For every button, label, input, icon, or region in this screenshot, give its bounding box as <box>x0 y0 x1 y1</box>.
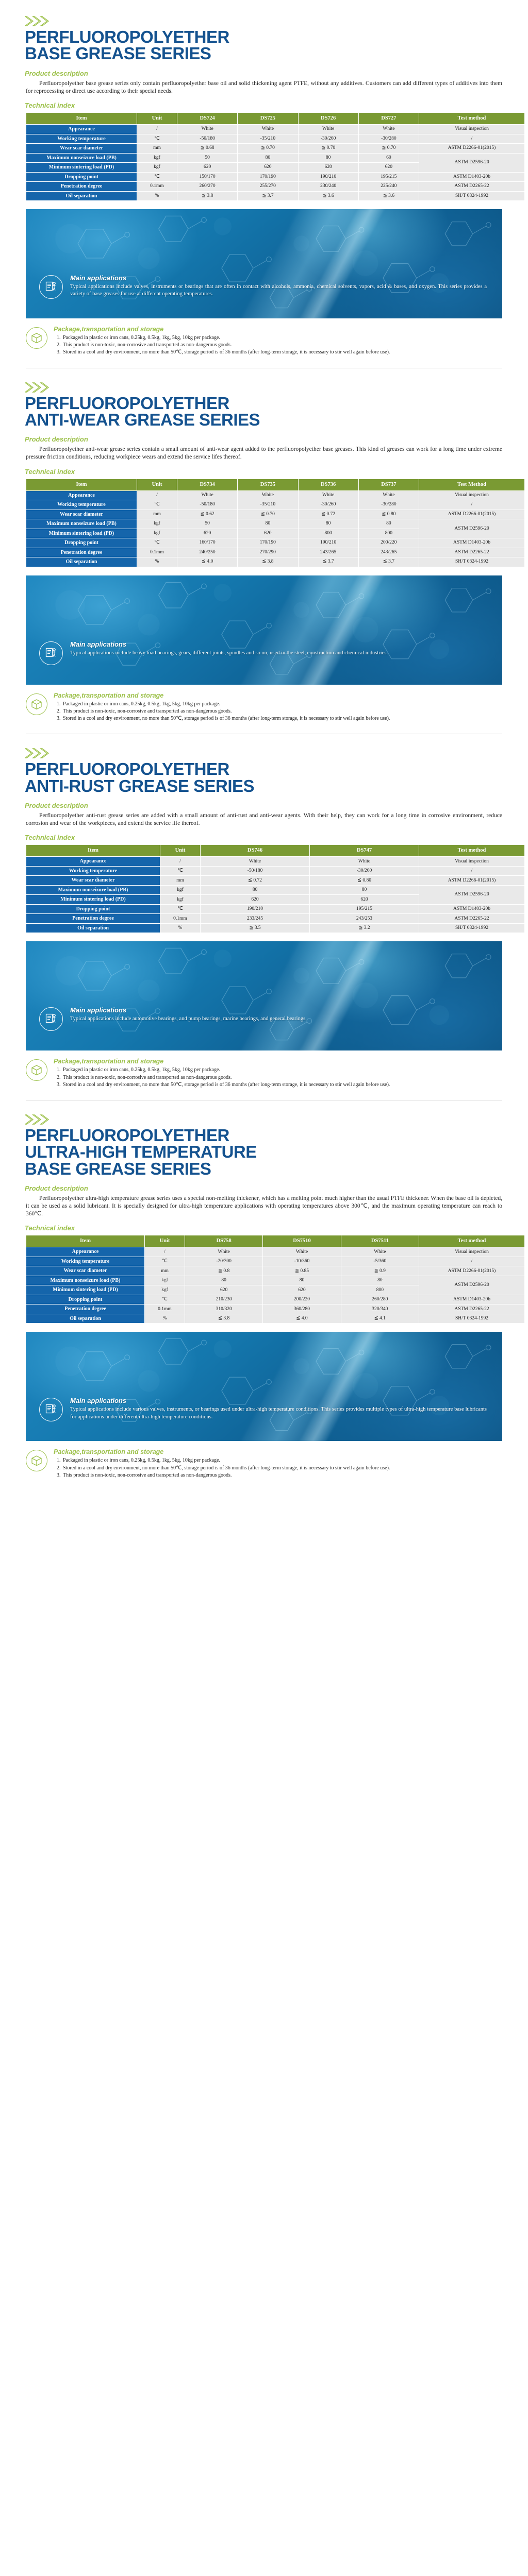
main-applications-title: Main applications <box>70 274 487 282</box>
table-cell: White <box>201 857 310 867</box>
table-cell: ≦ 3.8 <box>177 191 238 201</box>
table-cell: ≦ 3.6 <box>298 191 358 201</box>
table-cell: ≦ 4.0 <box>177 557 238 567</box>
table-row: Dropping point℃210/230200/220260/280ASTM… <box>26 1295 525 1304</box>
table-cell: / <box>419 866 525 876</box>
table-cell: -30/260 <box>298 500 358 510</box>
row-header-cell: Penetration degree <box>26 182 137 192</box>
row-header-cell: Minimum sintering load (PD) <box>26 895 160 905</box>
table-row: Penetration degree0.1mm233/245243/253AST… <box>26 914 525 924</box>
table-cell: ASTM D2265-22 <box>419 914 525 924</box>
main-applications-title: Main applications <box>70 640 487 648</box>
technical-index-table: ItemUnitDS758DS7510DS7511Test methodAppe… <box>26 1235 525 1324</box>
table-cell: kgf <box>137 163 177 173</box>
table-cell: 80 <box>341 1276 419 1285</box>
table-cell: SH/T 0324-1992 <box>419 1314 525 1324</box>
table-cell: -50/180 <box>177 134 238 144</box>
presentation-icon <box>39 641 63 665</box>
list-item: Stored in a cool and dry environment, no… <box>62 1465 502 1472</box>
package-storage-title: Package,transportation and storage <box>54 1448 502 1455</box>
table-cell: ℃ <box>137 134 177 144</box>
table-cell: 200/220 <box>263 1295 341 1304</box>
table-cell: kgf <box>145 1285 185 1295</box>
table-header-row: ItemUnitDS724DS725DS726DS727Test method <box>26 113 525 125</box>
list-item: This product is non-toxic, non-corrosive… <box>62 708 502 715</box>
column-header: Item <box>26 113 137 125</box>
table-cell: ASTM D2266-01(2015) <box>419 144 525 154</box>
package-box-icon <box>26 1059 47 1081</box>
table-header-row: ItemUnitDS758DS7510DS7511Test method <box>26 1235 525 1247</box>
column-header: DS7510 <box>263 1235 341 1247</box>
table-cell: kgf <box>160 885 201 895</box>
column-header: Unit <box>137 113 177 125</box>
table-cell: ≦ 0.70 <box>298 144 358 154</box>
table-row: Penetration degree0.1mm260/270255/270230… <box>26 182 525 192</box>
package-box-icon <box>26 693 47 715</box>
row-header-cell: Minimum sintering load (PD) <box>26 163 137 173</box>
row-header-cell: Working temperature <box>26 1257 145 1266</box>
table-cell: ≦ 3.6 <box>358 191 419 201</box>
table-cell: 620 <box>201 895 310 905</box>
column-header: DS735 <box>238 479 298 490</box>
main-applications-banner: Main applicationsTypical applications in… <box>26 575 502 685</box>
table-row: Maximum nonseizure load (PB)kgf50808080A… <box>26 519 525 529</box>
table-cell: ≦ 3.7 <box>298 557 358 567</box>
table-cell: ≦ 0.85 <box>263 1266 341 1276</box>
table-cell: 0.1mm <box>137 548 177 557</box>
row-header-cell: Appearance <box>26 1247 145 1257</box>
product-description-text: Perfluoropolyether ultra-high temperatur… <box>26 1195 502 1218</box>
row-header-cell: Working temperature <box>26 500 137 510</box>
table-cell: 243/265 <box>358 548 419 557</box>
table-cell: 255/270 <box>238 182 298 192</box>
table-cell: Visual inspection <box>419 125 525 134</box>
table-cell: 80 <box>185 1276 263 1285</box>
table-cell: ≦ 3.8 <box>185 1314 263 1324</box>
table-cell: 620 <box>238 163 298 173</box>
package-storage-title: Package,transportation and storage <box>54 326 502 333</box>
table-row: Dropping point℃190/210195/215ASTM D1403-… <box>26 904 525 914</box>
table-cell: -5/360 <box>341 1257 419 1266</box>
table-cell: 620 <box>238 529 298 538</box>
table-cell: ≦ 0.80 <box>358 510 419 519</box>
table-cell: ASTM D1403-20b <box>419 1295 525 1304</box>
table-cell: 260/270 <box>177 182 238 192</box>
table-cell: ≦ 3.2 <box>310 923 419 933</box>
table-cell: ℃ <box>137 172 177 182</box>
table-cell: White <box>298 125 358 134</box>
table-cell: 80 <box>238 153 298 163</box>
column-header: DS725 <box>238 113 298 125</box>
list-item: Stored in a cool and dry environment, no… <box>62 1081 502 1089</box>
column-header: Unit <box>160 845 201 857</box>
title-line: ULTRA-HIGH TEMPERATURE <box>25 1144 516 1160</box>
table-cell: -30/280 <box>358 500 419 510</box>
table-cell: ASTM D1403-20b <box>419 172 525 182</box>
table-cell: / <box>419 134 525 144</box>
table-cell: White <box>310 857 419 867</box>
table-cell: White <box>358 125 419 134</box>
title-line: ANTI-RUST GREASE SERIES <box>25 778 516 794</box>
technical-index-heading: Technical index <box>25 834 516 841</box>
package-storage-title: Package,transportation and storage <box>54 1058 502 1065</box>
row-header-cell: Wear scar diameter <box>26 876 160 886</box>
section-title: PERFLUOROPOLYETHERULTRA-HIGH TEMPERATURE… <box>25 1127 516 1177</box>
table-cell: 210/230 <box>185 1295 263 1304</box>
table-cell: White <box>358 490 419 500</box>
row-header-cell: Oil separation <box>26 191 137 201</box>
package-storage-block: Package,transportation and storagePackag… <box>26 692 502 723</box>
table-row: Oil separation%≦ 3.8≦ 4.0≦ 4.1SH/T 0324-… <box>26 1314 525 1324</box>
row-header-cell: Maximum nonseizure load (PB) <box>26 1276 145 1285</box>
cell-test-method: ASTM D2596-20 <box>419 885 525 904</box>
table-cell: 800 <box>341 1285 419 1295</box>
table-cell: SH/T 0324-1992 <box>419 557 525 567</box>
list-item: This product is non-toxic, non-corrosive… <box>62 342 502 349</box>
table-cell: ≦ 3.7 <box>238 191 298 201</box>
table-cell: -50/180 <box>201 866 310 876</box>
table-cell: ASTM D2265-22 <box>419 548 525 557</box>
table-row: Wear scar diametermm≦ 0.8≦ 0.85≦ 0.9ASTM… <box>26 1266 525 1276</box>
main-applications-title: Main applications <box>70 1006 487 1014</box>
main-applications-text: Typical applications include various val… <box>70 1406 487 1421</box>
list-item: Stored in a cool and dry environment, no… <box>62 715 502 722</box>
table-cell: ≦ 4.0 <box>263 1314 341 1324</box>
table-cell: 160/170 <box>177 538 238 548</box>
table-cell: 0.1mm <box>137 182 177 192</box>
table-cell: SH/T 0324-1992 <box>419 191 525 201</box>
column-header: DS736 <box>298 479 358 490</box>
title-line: BASE GREASE SERIES <box>25 1161 516 1177</box>
table-cell: 620 <box>185 1285 263 1295</box>
cell-test-method: ASTM D2596-20 <box>419 1276 525 1295</box>
table-row: Dropping point℃150/170170/190190/210195/… <box>26 172 525 182</box>
table-cell: ≦ 0.8 <box>185 1266 263 1276</box>
table-cell: -30/260 <box>298 134 358 144</box>
table-cell: 0.1mm <box>160 914 201 924</box>
table-cell: 800 <box>298 529 358 538</box>
row-header-cell: Dropping point <box>26 172 137 182</box>
table-cell: 190/210 <box>298 172 358 182</box>
table-cell: White <box>177 490 238 500</box>
table-row: Maximum nonseizure load (PB)kgf8080ASTM … <box>26 885 525 895</box>
table-cell: 620 <box>298 163 358 173</box>
row-header-cell: Working temperature <box>26 866 160 876</box>
row-header-cell: Minimum sintering load (PD) <box>26 529 137 538</box>
table-cell: -35/210 <box>238 500 298 510</box>
product-description-heading: Product description <box>25 802 516 809</box>
table-cell: 225/240 <box>358 182 419 192</box>
table-row: Wear scar diametermm≦ 0.68≦ 0.70≦ 0.70≦ … <box>26 144 525 154</box>
product-section-4: PERFLUOROPOLYETHERULTRA-HIGH TEMPERATURE… <box>0 1114 528 1479</box>
main-applications-text: Typical applications include automotive … <box>70 1015 487 1023</box>
row-header-cell: Penetration degree <box>26 548 137 557</box>
package-storage-block: Package,transportation and storagePackag… <box>26 1448 502 1479</box>
table-cell: ≦ 3.8 <box>238 557 298 567</box>
table-cell: 150/170 <box>177 172 238 182</box>
row-header-cell: Oil separation <box>26 923 160 933</box>
column-header: Unit <box>137 479 177 490</box>
technical-index-heading: Technical index <box>25 101 516 109</box>
product-description-heading: Product description <box>25 70 516 77</box>
row-header-cell: Wear scar diameter <box>26 144 137 154</box>
table-cell: / <box>137 490 177 500</box>
column-header: Item <box>26 479 137 490</box>
table-row: Oil separation%≦ 3.5≦ 3.2SH/T 0324-1992 <box>26 923 525 933</box>
table-cell: ≦ 0.70 <box>358 144 419 154</box>
table-row: Wear scar diametermm≦ 0.62≦ 0.70≦ 0.72≦ … <box>26 510 525 519</box>
table-cell: 190/210 <box>201 904 310 914</box>
table-cell: 620 <box>263 1285 341 1295</box>
section-divider <box>26 734 502 734</box>
table-row: Appearance/WhiteWhiteWhiteWhiteVisual in… <box>26 490 525 500</box>
technical-index-table: ItemUnitDS746DS747Test methodAppearance/… <box>26 844 525 933</box>
table-cell: -10/360 <box>263 1257 341 1266</box>
table-cell: 620 <box>310 895 419 905</box>
table-cell: White <box>263 1247 341 1257</box>
title-line: PERFLUOROPOLYETHER <box>25 29 516 45</box>
table-cell: ≦ 0.72 <box>201 876 310 886</box>
column-header: Test method <box>419 113 525 125</box>
table-cell: 620 <box>177 529 238 538</box>
table-cell: Visual inspection <box>419 857 525 867</box>
table-cell: White <box>238 490 298 500</box>
datasheet-page: PERFLUOROPOLYETHERBASE GREASE SERIESProd… <box>0 0 528 1484</box>
column-header: Item <box>26 1235 145 1247</box>
technical-index-table: ItemUnitDS734DS735DS736DS737Test MethodA… <box>26 479 525 567</box>
table-row: Working temperature℃-50/180-35/210-30/26… <box>26 500 525 510</box>
row-header-cell: Minimum sintering load (PD) <box>26 1285 145 1295</box>
table-cell: mm <box>137 144 177 154</box>
table-cell: ≦ 0.62 <box>177 510 238 519</box>
table-cell: ≦ 0.68 <box>177 144 238 154</box>
table-cell: 800 <box>358 529 419 538</box>
table-cell: % <box>137 557 177 567</box>
column-header: DS724 <box>177 113 238 125</box>
table-cell: / <box>145 1247 185 1257</box>
table-row: Working temperature℃-20/300-10/360-5/360… <box>26 1257 525 1266</box>
row-header-cell: Maximum nonseizure load (PB) <box>26 885 160 895</box>
table-cell: 190/210 <box>298 538 358 548</box>
product-section-3: PERFLUOROPOLYETHERANTI-RUST GREASE SERIE… <box>0 748 528 1100</box>
product-description-heading: Product description <box>25 1184 516 1192</box>
table-cell: ≦ 3.5 <box>201 923 310 933</box>
column-header: Item <box>26 845 160 857</box>
table-row: Working temperature℃-50/180-35/210-30/26… <box>26 134 525 144</box>
table-cell: ≦ 0.72 <box>298 510 358 519</box>
table-cell: Visual inspection <box>419 490 525 500</box>
table-cell: 170/190 <box>238 172 298 182</box>
column-header: DS7511 <box>341 1235 419 1247</box>
product-description-text: Perfluoropolyether base grease series on… <box>26 80 502 95</box>
row-header-cell: Oil separation <box>26 1314 145 1324</box>
list-item: Packaged in plastic or iron cans, 0.25kg… <box>62 701 502 708</box>
row-header-cell: Appearance <box>26 857 160 867</box>
table-cell: 620 <box>177 163 238 173</box>
table-cell: ASTM D2266-01(2015) <box>419 876 525 886</box>
list-item: This product is non-toxic, non-corrosive… <box>62 1472 502 1479</box>
table-cell: 233/245 <box>201 914 310 924</box>
product-section-2: PERFLUOROPOLYETHERANTI-WEAR GREASE SERIE… <box>0 382 528 735</box>
table-cell: White <box>238 125 298 134</box>
main-applications-banner: Main applicationsTypical applications in… <box>26 941 502 1050</box>
table-cell: 200/220 <box>358 538 419 548</box>
chevron-double-right-icon <box>25 1114 516 1125</box>
table-cell: 320/340 <box>341 1304 419 1314</box>
table-cell: 80 <box>238 519 298 529</box>
table-cell: 243/253 <box>310 914 419 924</box>
row-header-cell: Working temperature <box>26 134 137 144</box>
table-cell: mm <box>160 876 201 886</box>
table-cell: kgf <box>160 895 201 905</box>
table-cell: 310/320 <box>185 1304 263 1314</box>
table-cell: ASTM D1403-20b <box>419 538 525 548</box>
table-cell: 170/190 <box>238 538 298 548</box>
column-header: Unit <box>145 1235 185 1247</box>
main-applications-banner: Main applicationsTypical applications in… <box>26 209 502 318</box>
table-cell: White <box>298 490 358 500</box>
table-cell: 60 <box>358 153 419 163</box>
title-line: PERFLUOROPOLYETHER <box>25 395 516 412</box>
table-cell: 80 <box>298 153 358 163</box>
presentation-icon <box>39 1007 63 1031</box>
table-cell: % <box>137 191 177 201</box>
table-row: Dropping point℃160/170170/190190/210200/… <box>26 538 525 548</box>
table-row: Wear scar diametermm≦ 0.72≦ 0.80ASTM D22… <box>26 876 525 886</box>
product-description-text: Perfluoropolyether anti-wear grease seri… <box>26 446 502 461</box>
table-cell: 80 <box>298 519 358 529</box>
column-header: Test Method <box>419 479 525 490</box>
table-row: Penetration degree0.1mm310/320360/280320… <box>26 1304 525 1314</box>
table-cell: ℃ <box>160 866 201 876</box>
row-header-cell: Wear scar diameter <box>26 510 137 519</box>
table-cell: kgf <box>137 519 177 529</box>
section-title: PERFLUOROPOLYETHERBASE GREASE SERIES <box>25 29 516 62</box>
table-cell: / <box>419 1257 525 1266</box>
row-header-cell: Appearance <box>26 125 137 134</box>
table-cell: 80 <box>358 519 419 529</box>
table-cell: 195/215 <box>358 172 419 182</box>
table-cell: 230/240 <box>298 182 358 192</box>
title-line: PERFLUOROPOLYETHER <box>25 761 516 777</box>
table-row: Oil separation%≦ 3.8≦ 3.7≦ 3.6≦ 3.6SH/T … <box>26 191 525 201</box>
table-cell: ASTM D2266-01(2015) <box>419 1266 525 1276</box>
row-header-cell: Oil separation <box>26 557 137 567</box>
column-header: DS727 <box>358 113 419 125</box>
section-divider <box>26 368 502 368</box>
table-row: Maximum nonseizure load (PB)kgf808080AST… <box>26 1276 525 1285</box>
table-cell: -50/180 <box>177 500 238 510</box>
package-box-icon <box>26 1450 47 1471</box>
product-section-1: PERFLUOROPOLYETHERBASE GREASE SERIESProd… <box>0 0 528 368</box>
section-title: PERFLUOROPOLYETHERANTI-RUST GREASE SERIE… <box>25 761 516 794</box>
table-cell: ASTM D2265-22 <box>419 182 525 192</box>
package-storage-title: Package,transportation and storage <box>54 692 502 699</box>
table-cell: ≦ 0.70 <box>238 510 298 519</box>
main-applications-text: Typical applications include heavy load … <box>70 650 487 657</box>
table-cell: White <box>341 1247 419 1257</box>
table-cell: 0.1mm <box>145 1304 185 1314</box>
list-item: This product is non-toxic, non-corrosive… <box>62 1074 502 1081</box>
table-cell: ASTM D2266-01(2015) <box>419 510 525 519</box>
column-header: DS726 <box>298 113 358 125</box>
table-header-row: ItemUnitDS734DS735DS736DS737Test Method <box>26 479 525 490</box>
technical-index-heading: Technical index <box>25 1224 516 1232</box>
table-cell: / <box>137 125 177 134</box>
table-row: Maximum nonseizure load (PB)kgf50808060A… <box>26 153 525 163</box>
chevron-double-right-icon <box>25 15 516 27</box>
chevron-double-right-icon <box>25 382 516 393</box>
table-cell: -30/280 <box>358 134 419 144</box>
table-cell: % <box>160 923 201 933</box>
table-cell: mm <box>137 510 177 519</box>
presentation-icon <box>39 275 63 299</box>
table-cell: ASTM D2265-22 <box>419 1304 525 1314</box>
list-item: Stored in a cool and dry environment, no… <box>62 349 502 356</box>
main-applications-title: Main applications <box>70 1397 487 1404</box>
table-cell: White <box>177 125 238 134</box>
column-header: DS758 <box>185 1235 263 1247</box>
column-header: Test method <box>419 1235 525 1247</box>
section-title: PERFLUOROPOLYETHERANTI-WEAR GREASE SERIE… <box>25 395 516 429</box>
table-cell: Visual inspection <box>419 1247 525 1257</box>
row-header-cell: Penetration degree <box>26 1304 145 1314</box>
table-cell: 260/280 <box>341 1295 419 1304</box>
table-cell: / <box>419 500 525 510</box>
table-cell: ℃ <box>137 538 177 548</box>
package-storage-list: Packaged in plastic or iron cans, 0.25kg… <box>62 334 502 357</box>
table-cell: 240/250 <box>177 548 238 557</box>
section-divider <box>26 1100 502 1100</box>
main-applications-text: Typical applications include valves, ins… <box>70 283 487 298</box>
table-header-row: ItemUnitDS746DS747Test method <box>26 845 525 857</box>
row-header-cell: Wear scar diameter <box>26 1266 145 1276</box>
table-cell: White <box>185 1247 263 1257</box>
table-cell: ≦ 4.1 <box>341 1314 419 1324</box>
table-cell: % <box>145 1314 185 1324</box>
title-line: PERFLUOROPOLYETHER <box>25 1127 516 1144</box>
cell-test-method: ASTM D2596-20 <box>419 519 525 538</box>
table-cell: kgf <box>137 153 177 163</box>
table-row: Appearance/WhiteWhiteVisual inspection <box>26 857 525 867</box>
column-header: DS746 <box>201 845 310 857</box>
table-cell: 80 <box>201 885 310 895</box>
table-cell: ASTM D1403-20b <box>419 904 525 914</box>
row-header-cell: Dropping point <box>26 1295 145 1304</box>
table-cell: ≦ 0.70 <box>238 144 298 154</box>
table-cell: 195/215 <box>310 904 419 914</box>
table-cell: ≦ 0.80 <box>310 876 419 886</box>
product-description-heading: Product description <box>25 435 516 443</box>
presentation-icon <box>39 1398 63 1421</box>
row-header-cell: Dropping point <box>26 538 137 548</box>
table-row: Appearance/WhiteWhiteWhiteWhiteVisual in… <box>26 125 525 134</box>
table-row: Working temperature℃-50/180-30/260/ <box>26 866 525 876</box>
table-cell: 360/280 <box>263 1304 341 1314</box>
list-item: Packaged in plastic or iron cans, 0.25kg… <box>62 334 502 342</box>
list-item: Packaged in plastic or iron cans, 0.25kg… <box>62 1457 502 1464</box>
column-header: DS747 <box>310 845 419 857</box>
column-header: DS734 <box>177 479 238 490</box>
table-cell: SH/T 0324-1992 <box>419 923 525 933</box>
table-cell: 80 <box>263 1276 341 1285</box>
table-cell: 270/290 <box>238 548 298 557</box>
column-header: DS737 <box>358 479 419 490</box>
table-cell: ℃ <box>137 500 177 510</box>
table-cell: mm <box>145 1266 185 1276</box>
package-storage-list: Packaged in plastic or iron cans, 0.25kg… <box>62 1457 502 1479</box>
technical-index-table: ItemUnitDS724DS725DS726DS727Test methodA… <box>26 112 525 201</box>
